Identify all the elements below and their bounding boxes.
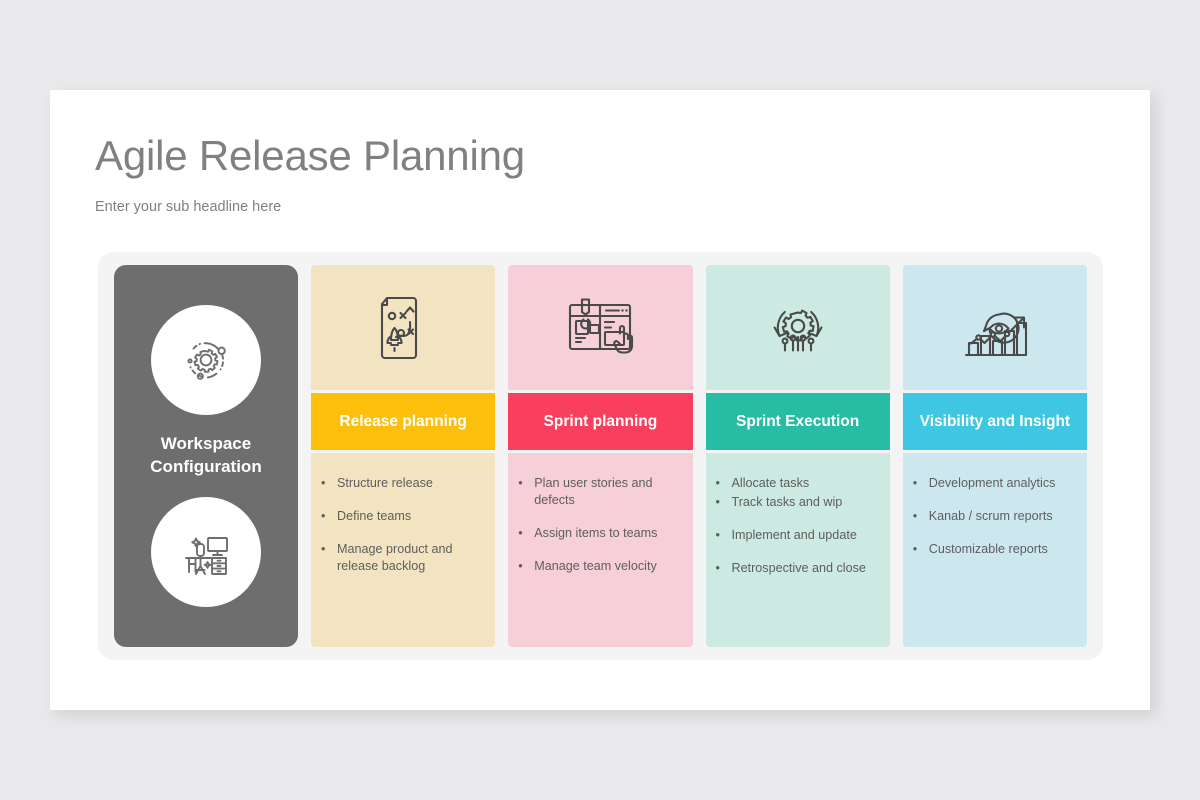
bullet-dot: • <box>716 475 732 492</box>
list-item: • Structure release <box>321 475 481 492</box>
strategy-rocket-document-icon <box>372 292 434 364</box>
bullet-dot: • <box>716 560 732 577</box>
list-item: • Implement and update <box>716 527 876 544</box>
bullet-list-release-planning: • Structure release • Define teams • Man… <box>321 475 481 575</box>
stage-body-sprint-planning: • Plan user stories and defects • Assign… <box>508 453 692 647</box>
bullet-text: Customizable reports <box>929 541 1073 558</box>
stage-body-sprint-execution: • Allocate tasks • Track tasks and wip •… <box>706 453 890 647</box>
list-item: • Customizable reports <box>913 541 1073 558</box>
slide-header: Agile Release Planning Enter your sub he… <box>95 135 525 215</box>
bullet-dot: • <box>321 541 337 558</box>
bullet-text: Structure release <box>337 475 481 492</box>
list-item: • Assign items to teams <box>518 525 678 542</box>
list-item: • Define teams <box>321 508 481 525</box>
bullet-text: Track tasks and wip <box>732 494 876 511</box>
list-item: • Allocate tasks <box>716 475 876 492</box>
bullet-dot: • <box>321 475 337 492</box>
slide-shadow-wrapper: Agile Release Planning Enter your sub he… <box>50 90 1150 710</box>
workspace-configuration-card[interactable]: Workspace Configuration <box>114 265 298 647</box>
list-item: • Plan user stories and defects <box>518 475 678 509</box>
bullet-dot: • <box>716 527 732 544</box>
stage-column-sprint-execution[interactable]: Sprint Execution • Allocate tasks • Trac… <box>706 265 890 647</box>
list-item: • Manage team velocity <box>518 558 678 575</box>
page-title: Agile Release Planning <box>95 135 525 177</box>
bullet-dot: • <box>913 541 929 558</box>
bullet-dot: • <box>716 494 732 511</box>
stage-column-sprint-planning[interactable]: Sprint planning • Plan user stories and … <box>508 265 692 647</box>
stage-body-visibility-and-insight: • Development analytics • Kanab / scrum … <box>903 453 1087 647</box>
bullet-text: Allocate tasks <box>732 475 876 492</box>
bullet-list-sprint-execution: • Allocate tasks • Track tasks and wip •… <box>716 475 876 577</box>
list-item: • Retrospective and close <box>716 560 876 577</box>
bullet-text: Plan user stories and defects <box>534 475 678 509</box>
stage-icon-pane-sprint-planning <box>508 265 692 390</box>
bullet-text: Manage team velocity <box>534 558 678 575</box>
bullet-dot: • <box>321 508 337 525</box>
workstation-desk-icon-badge <box>151 497 261 607</box>
stage-column-release-planning[interactable]: Release planning • Structure release • D… <box>311 265 495 647</box>
list-item: • Kanab / scrum reports <box>913 508 1073 525</box>
stage-label-sprint-planning: Sprint planning <box>508 393 692 450</box>
list-item: • Development analytics <box>913 475 1073 492</box>
eye-bar-chart-growth-icon <box>956 293 1034 363</box>
bullet-dot: • <box>518 475 534 492</box>
gear-network-icon <box>172 326 240 394</box>
bullet-text: Assign items to teams <box>534 525 678 542</box>
stage-icon-pane-visibility-and-insight <box>903 265 1087 390</box>
stage-label-visibility-and-insight: Visibility and Insight <box>903 393 1087 450</box>
bullet-list-visibility-and-insight: • Development analytics • Kanab / scrum … <box>913 475 1073 558</box>
stage-label-sprint-execution: Sprint Execution <box>706 393 890 450</box>
diagram-panel: Workspace Configuration <box>98 252 1103 660</box>
bullet-text: Development analytics <box>929 475 1073 492</box>
list-item: • Track tasks and wip <box>716 494 876 511</box>
bullet-dot: • <box>913 475 929 492</box>
bullet-text: Define teams <box>337 508 481 525</box>
bullet-text: Retrospective and close <box>732 560 876 577</box>
workspace-configuration-title: Workspace Configuration <box>114 433 298 479</box>
workstation-desk-icon <box>172 518 240 586</box>
bullet-text: Manage product and release backlog <box>337 541 481 575</box>
bullet-dot: • <box>518 558 534 575</box>
bullet-text: Kanab / scrum reports <box>929 508 1073 525</box>
bullet-list-sprint-planning: • Plan user stories and defects • Assign… <box>518 475 678 575</box>
stage-body-release-planning: • Structure release • Define teams • Man… <box>311 453 495 647</box>
gear-cycle-circuit-icon <box>762 294 834 362</box>
page-subtitle: Enter your sub headline here <box>95 199 525 215</box>
stage-column-visibility-and-insight[interactable]: Visibility and Insight • Development ana… <box>903 265 1087 647</box>
slide-canvas: Agile Release Planning Enter your sub he… <box>50 90 1150 710</box>
kanban-board-hand-icon <box>562 293 638 363</box>
list-item: • Manage product and release backlog <box>321 541 481 575</box>
bullet-text: Implement and update <box>732 527 876 544</box>
stage-icon-pane-sprint-execution <box>706 265 890 390</box>
stage-icon-pane-release-planning <box>311 265 495 390</box>
gear-network-icon-badge <box>151 305 261 415</box>
stage-label-release-planning: Release planning <box>311 393 495 450</box>
bullet-dot: • <box>913 508 929 525</box>
bullet-dot: • <box>518 525 534 542</box>
